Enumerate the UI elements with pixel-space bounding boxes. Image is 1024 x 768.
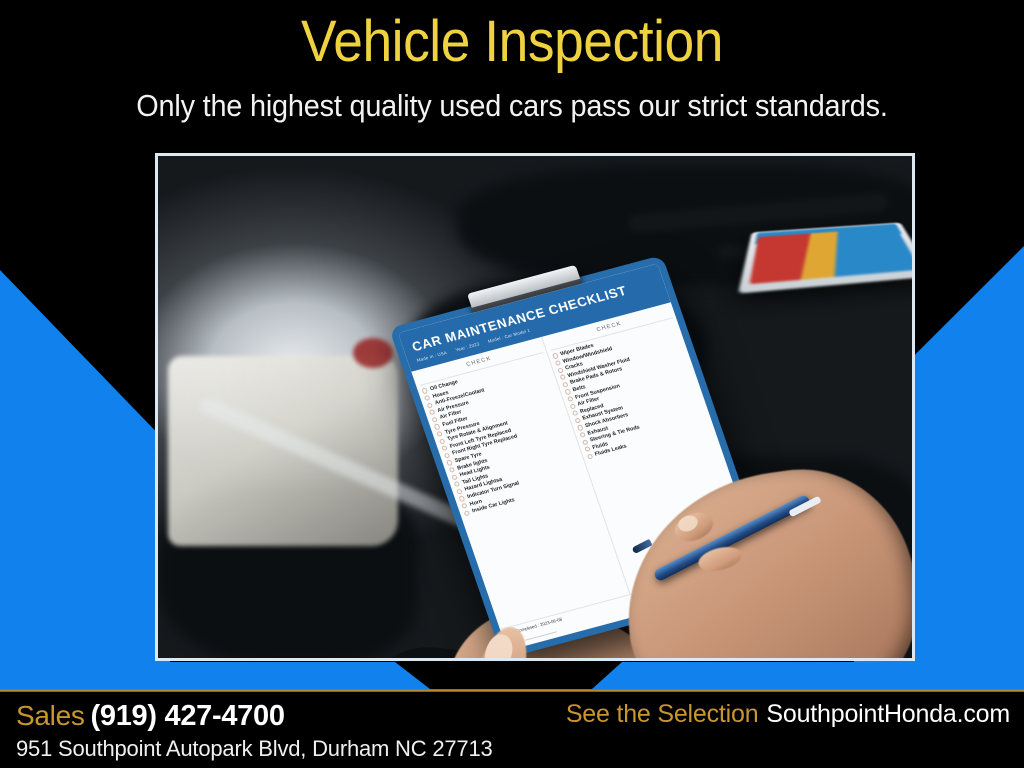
checkbox-circle-icon[interactable]: [461, 503, 468, 509]
checkbox-circle-icon[interactable]: [446, 460, 453, 466]
car-battery: [738, 223, 912, 294]
blue-accent-band: [0, 662, 1024, 689]
checkbox-circle-icon[interactable]: [464, 510, 471, 516]
checkbox-circle-icon[interactable]: [584, 446, 591, 452]
checkbox-circle-icon[interactable]: [439, 438, 446, 444]
checkbox-circle-icon[interactable]: [421, 388, 428, 394]
checkbox-circle-icon[interactable]: [586, 453, 593, 459]
checkbox-circle-icon[interactable]: [567, 396, 574, 402]
vehicle-inspection-ad: Vehicle Inspection Only the highest qual…: [0, 0, 1024, 768]
selection-cta: See the SelectionSouthpointHonda.com: [566, 700, 1010, 729]
checkbox-circle-icon[interactable]: [554, 360, 561, 366]
page-title: Vehicle Inspection: [41, 12, 983, 73]
checkbox-circle-icon[interactable]: [451, 474, 458, 480]
checkbox-circle-icon[interactable]: [429, 409, 436, 415]
blue-wedge-left: [0, 270, 170, 670]
checkbox-circle-icon[interactable]: [454, 481, 461, 487]
engine-bay-photo: CAR MAINTENANCE CHECKLIST Made in : USA …: [158, 156, 912, 658]
checkbox-circle-icon[interactable]: [449, 467, 456, 473]
website-link[interactable]: SouthpointHonda.com: [766, 700, 1010, 728]
checkbox-circle-icon[interactable]: [456, 488, 463, 494]
checkbox-circle-icon[interactable]: [572, 410, 579, 416]
dealership-address: 951 Southpoint Autopark Blvd, Durham NC …: [16, 736, 493, 762]
checkbox-circle-icon[interactable]: [569, 403, 576, 409]
reservoir-cap: [353, 338, 393, 368]
checkbox-circle-icon[interactable]: [559, 374, 566, 380]
battery-label: [750, 228, 912, 285]
sales-phone[interactable]: (919) 427-4700: [91, 700, 285, 732]
checkbox-circle-icon[interactable]: [576, 425, 583, 431]
checkbox-circle-icon[interactable]: [431, 416, 438, 422]
checkbox-circle-icon[interactable]: [459, 495, 466, 501]
checkbox-circle-icon[interactable]: [441, 445, 448, 451]
see-selection-label: See the Selection: [566, 700, 759, 728]
checkbox-circle-icon[interactable]: [564, 389, 571, 395]
checklist-meta-year: Year : 2023: [455, 341, 480, 352]
checkbox-circle-icon[interactable]: [579, 432, 586, 438]
sales-contact: Sales(919) 427-4700: [16, 700, 285, 733]
checkbox-circle-icon[interactable]: [434, 424, 441, 430]
checkbox-circle-icon[interactable]: [574, 417, 581, 423]
footer-bar: Sales(919) 427-4700 951 Southpoint Autop…: [0, 692, 1024, 768]
page-subtitle: Only the highest quality used cars pass …: [36, 88, 988, 124]
inspection-photo-frame: CAR MAINTENANCE CHECKLIST Made in : USA …: [155, 153, 915, 661]
checkbox-circle-icon[interactable]: [552, 353, 559, 359]
checkbox-circle-icon[interactable]: [557, 367, 564, 373]
checkbox-circle-icon[interactable]: [424, 395, 431, 401]
checkbox-circle-icon[interactable]: [426, 402, 433, 408]
checkbox-circle-icon[interactable]: [562, 382, 569, 388]
checkbox-circle-icon[interactable]: [436, 431, 443, 437]
coolant-reservoir: [168, 356, 398, 546]
sales-label: Sales: [16, 700, 85, 731]
checkbox-circle-icon[interactable]: [581, 439, 588, 445]
checkbox-circle-icon[interactable]: [444, 452, 451, 458]
